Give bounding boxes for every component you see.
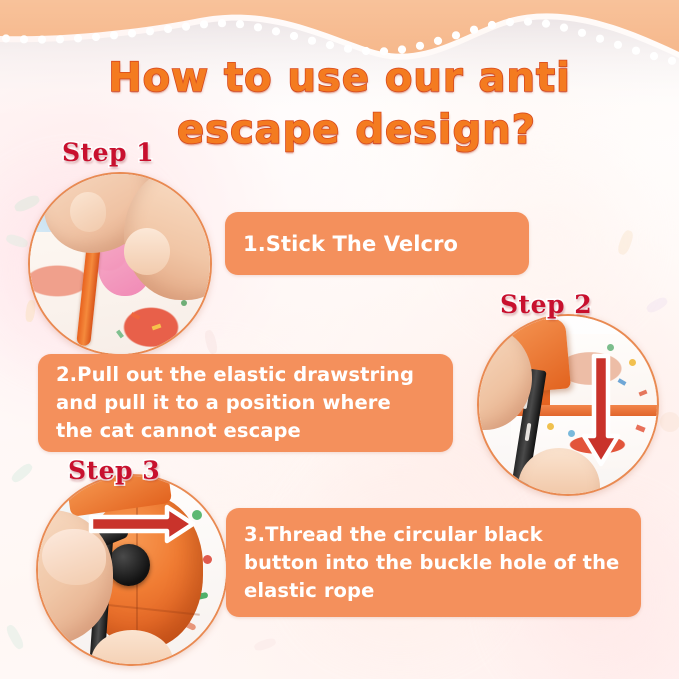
instruction-infographic: How to use our anti escape design? Step … — [0, 0, 679, 679]
step-3-instruction-text: 3.Thread the circular black button into … — [226, 521, 637, 605]
step-3-instruction-box: 3.Thread the circular black button into … — [226, 508, 641, 617]
step-2-photo-content — [479, 316, 657, 494]
step-1-instruction-box: 1.Stick The Velcro — [225, 212, 529, 275]
step-1-instruction-text: 1.Stick The Velcro — [225, 230, 476, 258]
step-2-photo-elastic-drawstring — [477, 314, 659, 496]
step-3-photo-black-button-buckle — [36, 474, 228, 666]
step-1-photo-content — [30, 174, 210, 354]
step-2-instruction-text: 2.Pull out the elastic drawstring and pu… — [38, 361, 432, 445]
step-1-photo-velcro-strap — [28, 172, 212, 356]
step-2-instruction-box: 2.Pull out the elastic drawstring and pu… — [38, 354, 453, 452]
step-3-photo-content — [38, 476, 226, 664]
